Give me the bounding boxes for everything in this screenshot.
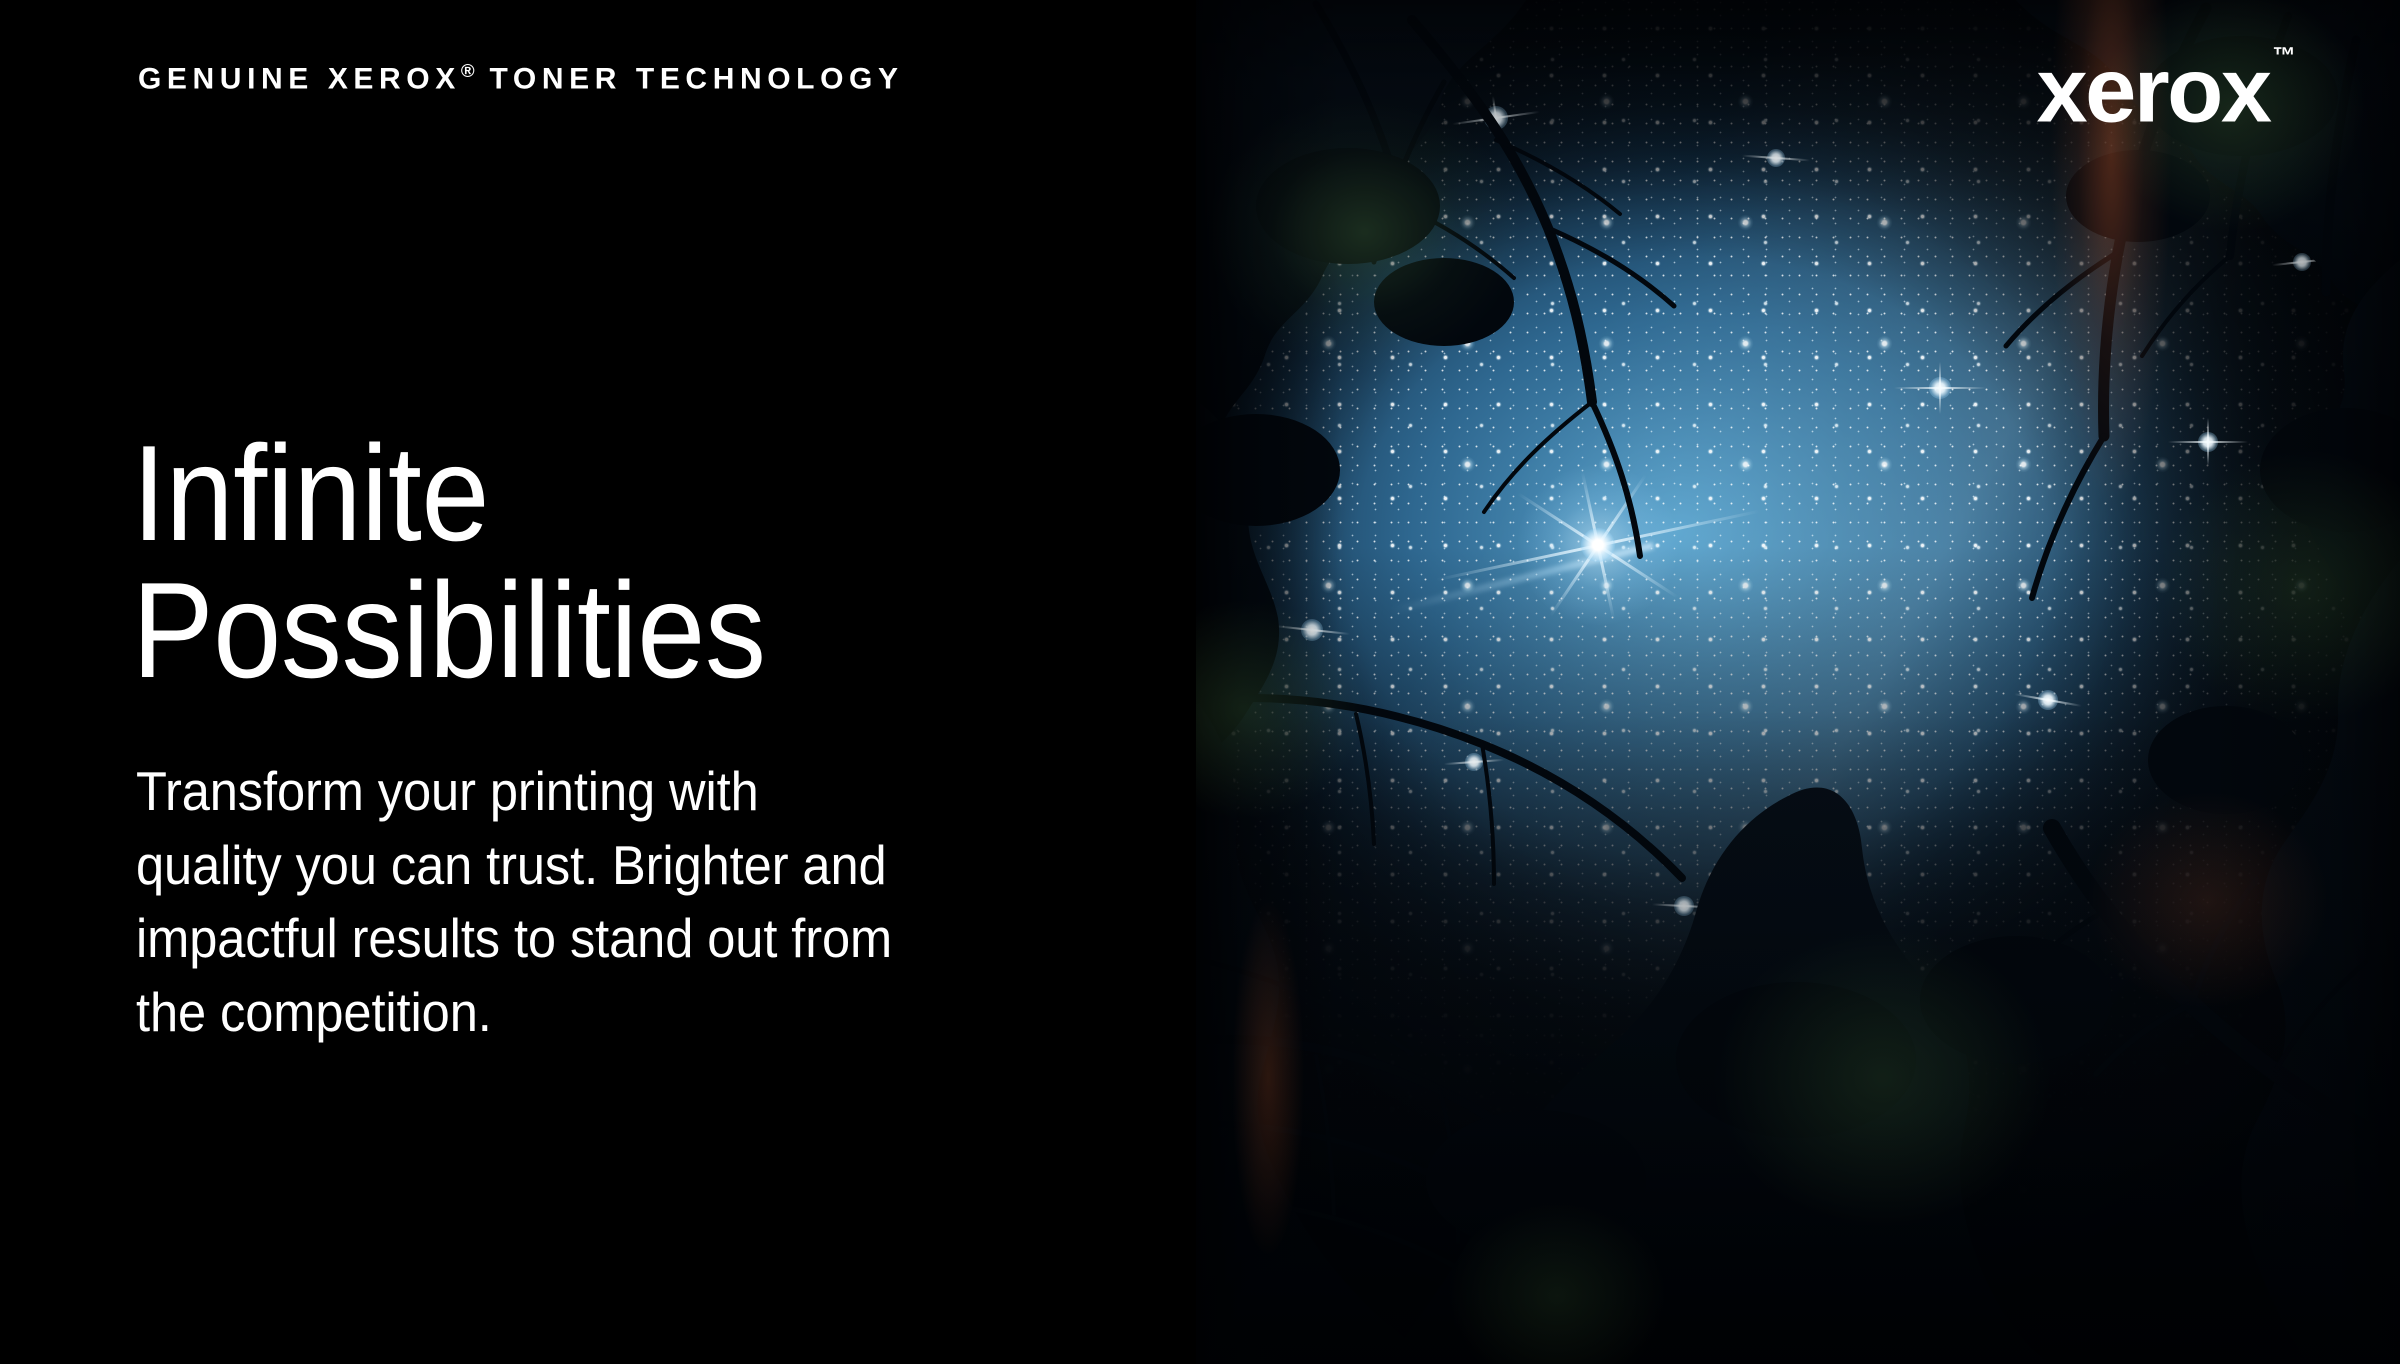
starry-forest-photo — [1196, 0, 2400, 1364]
eyebrow-kicker: GENUINE XEROX® TONER TECHNOLOGY — [138, 62, 904, 95]
registered-trademark-icon: ® — [461, 60, 475, 81]
body-line-1: Transform your printing with — [136, 755, 798, 829]
marketing-banner: xerox™ GENUINE XEROX® TONER TECHNOLOGY I… — [0, 0, 2400, 1364]
warm-trunk-highlight — [1196, 0, 2400, 1364]
headline-line-2: Possibilities — [132, 562, 1032, 699]
text-panel: GENUINE XEROX® TONER TECHNOLOGY Infinite… — [0, 0, 1196, 1364]
xerox-wordmark: xerox — [2037, 40, 2270, 142]
eyebrow-text-after: TONER TECHNOLOGY — [476, 63, 904, 96]
eyebrow-text-before: GENUINE XEROX — [138, 63, 461, 96]
body-line-3: impactful results to stand out from — [136, 902, 798, 976]
body-line-2: quality you can trust. Brighter and — [136, 829, 798, 903]
body-copy: Transform your printing with quality you… — [136, 755, 798, 1050]
headline-line-1: Infinite — [132, 425, 1032, 562]
trademark-icon: ™ — [2273, 42, 2297, 68]
page-title: Infinite Possibilities — [132, 425, 1032, 700]
xerox-logo: xerox™ — [2037, 44, 2297, 137]
body-line-4: the competition. — [136, 976, 798, 1050]
